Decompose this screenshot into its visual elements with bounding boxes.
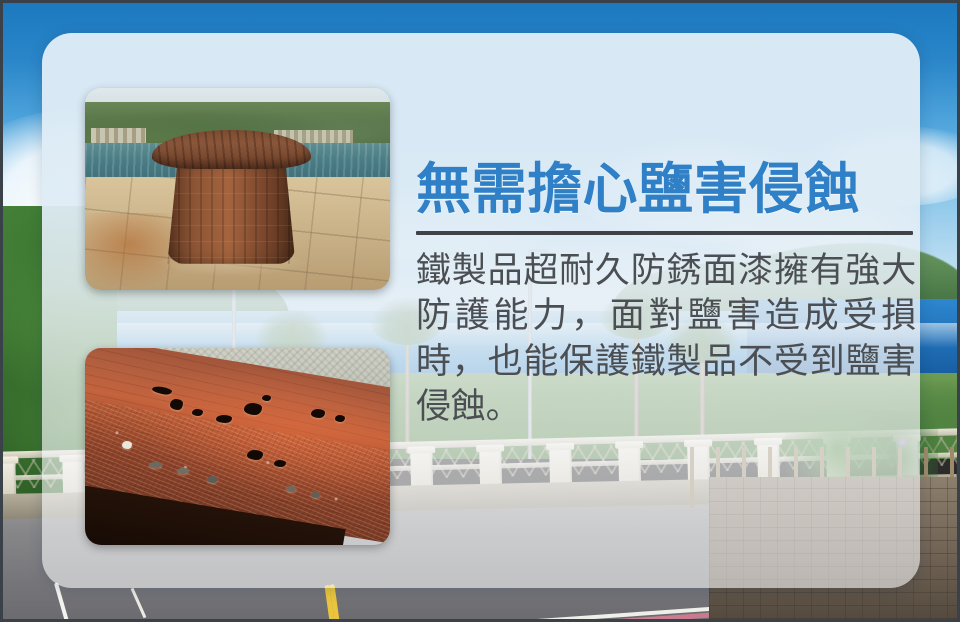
body-paragraph: 鐵製品超耐久防銹面漆擁有強大防護能力，面對鹽害造成受損時，也能保護鐵製品不受到鹽… [416, 249, 916, 431]
photo-rusted-bollard [85, 88, 390, 290]
headline-divider [416, 231, 913, 235]
text-column: 無需擔心鹽害侵蝕 鐵製品超耐久防銹面漆擁有強大防護能力，面對鹽害造成受損時，也能… [416, 160, 916, 431]
headline: 無需擔心鹽害侵蝕 [416, 160, 916, 219]
banner-stage: 無需擔心鹽害侵蝕 鐵製品超耐久防銹面漆擁有強大防護能力，面對鹽害造成受損時，也能… [0, 0, 960, 622]
photo-corroded-guardrail [85, 348, 390, 545]
